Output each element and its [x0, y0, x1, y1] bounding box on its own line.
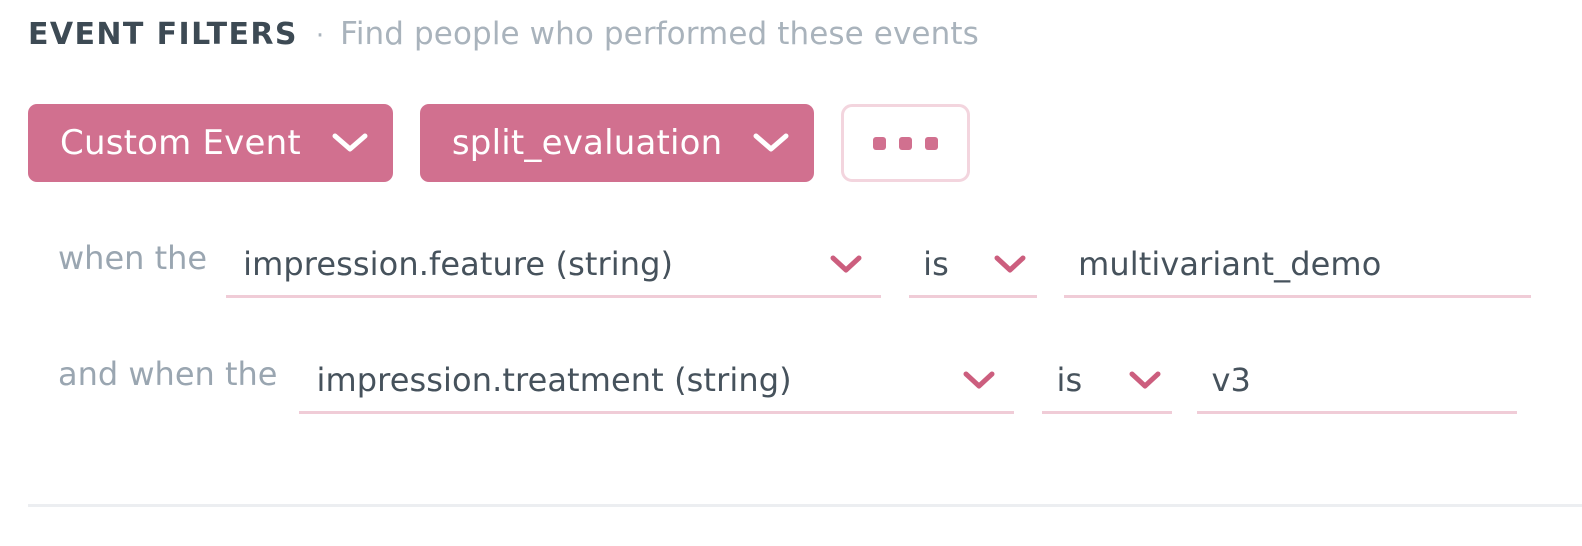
condition-property-value: impression.feature (string) — [243, 238, 673, 290]
chevron-down-icon — [962, 369, 996, 391]
condition-prefix-label: when the — [58, 232, 207, 284]
event-more-options-button[interactable] — [841, 104, 970, 182]
condition-property-select[interactable]: impression.treatment (string) — [299, 348, 1014, 414]
condition-operator-value: is — [923, 238, 949, 290]
chevron-down-icon — [829, 253, 863, 275]
header-subtitle: Find people who performed these events — [340, 16, 979, 52]
condition-operator-select[interactable]: is — [1042, 348, 1172, 414]
event-filters-panel: EVENT FILTERS · Find people who performe… — [0, 0, 1582, 546]
panel-header: EVENT FILTERS · Find people who performe… — [28, 16, 979, 52]
condition-operator-select[interactable]: is — [909, 232, 1037, 298]
condition-property-value: impression.treatment (string) — [316, 354, 791, 406]
condition-prefix-label: and when the — [58, 348, 277, 400]
event-type-label: Custom Event — [60, 126, 301, 160]
filter-condition-row: when the impression.feature (string) is … — [58, 232, 1531, 298]
condition-property-select[interactable]: impression.feature (string) — [226, 232, 881, 298]
condition-operator-value: is — [1056, 354, 1082, 406]
event-type-pill[interactable]: Custom Event — [28, 104, 393, 182]
condition-value-input[interactable]: multivariant_demo — [1064, 232, 1531, 298]
header-separator: · — [316, 23, 324, 49]
section-divider — [28, 504, 1582, 507]
event-name-label: split_evaluation — [452, 126, 723, 160]
page-title: EVENT FILTERS — [28, 17, 298, 52]
condition-value-text: multivariant_demo — [1078, 238, 1381, 290]
filter-condition-row: and when the impression.treatment (strin… — [58, 348, 1517, 414]
event-pill-row: Custom Event split_evaluation — [28, 104, 970, 182]
chevron-down-icon — [1128, 369, 1162, 391]
condition-value-input[interactable]: v3 — [1197, 348, 1517, 414]
event-name-pill[interactable]: split_evaluation — [420, 104, 815, 182]
chevron-down-icon — [993, 253, 1027, 275]
ellipsis-icon — [873, 137, 938, 150]
chevron-down-icon — [752, 131, 790, 155]
chevron-down-icon — [331, 131, 369, 155]
condition-value-text: v3 — [1211, 354, 1251, 406]
